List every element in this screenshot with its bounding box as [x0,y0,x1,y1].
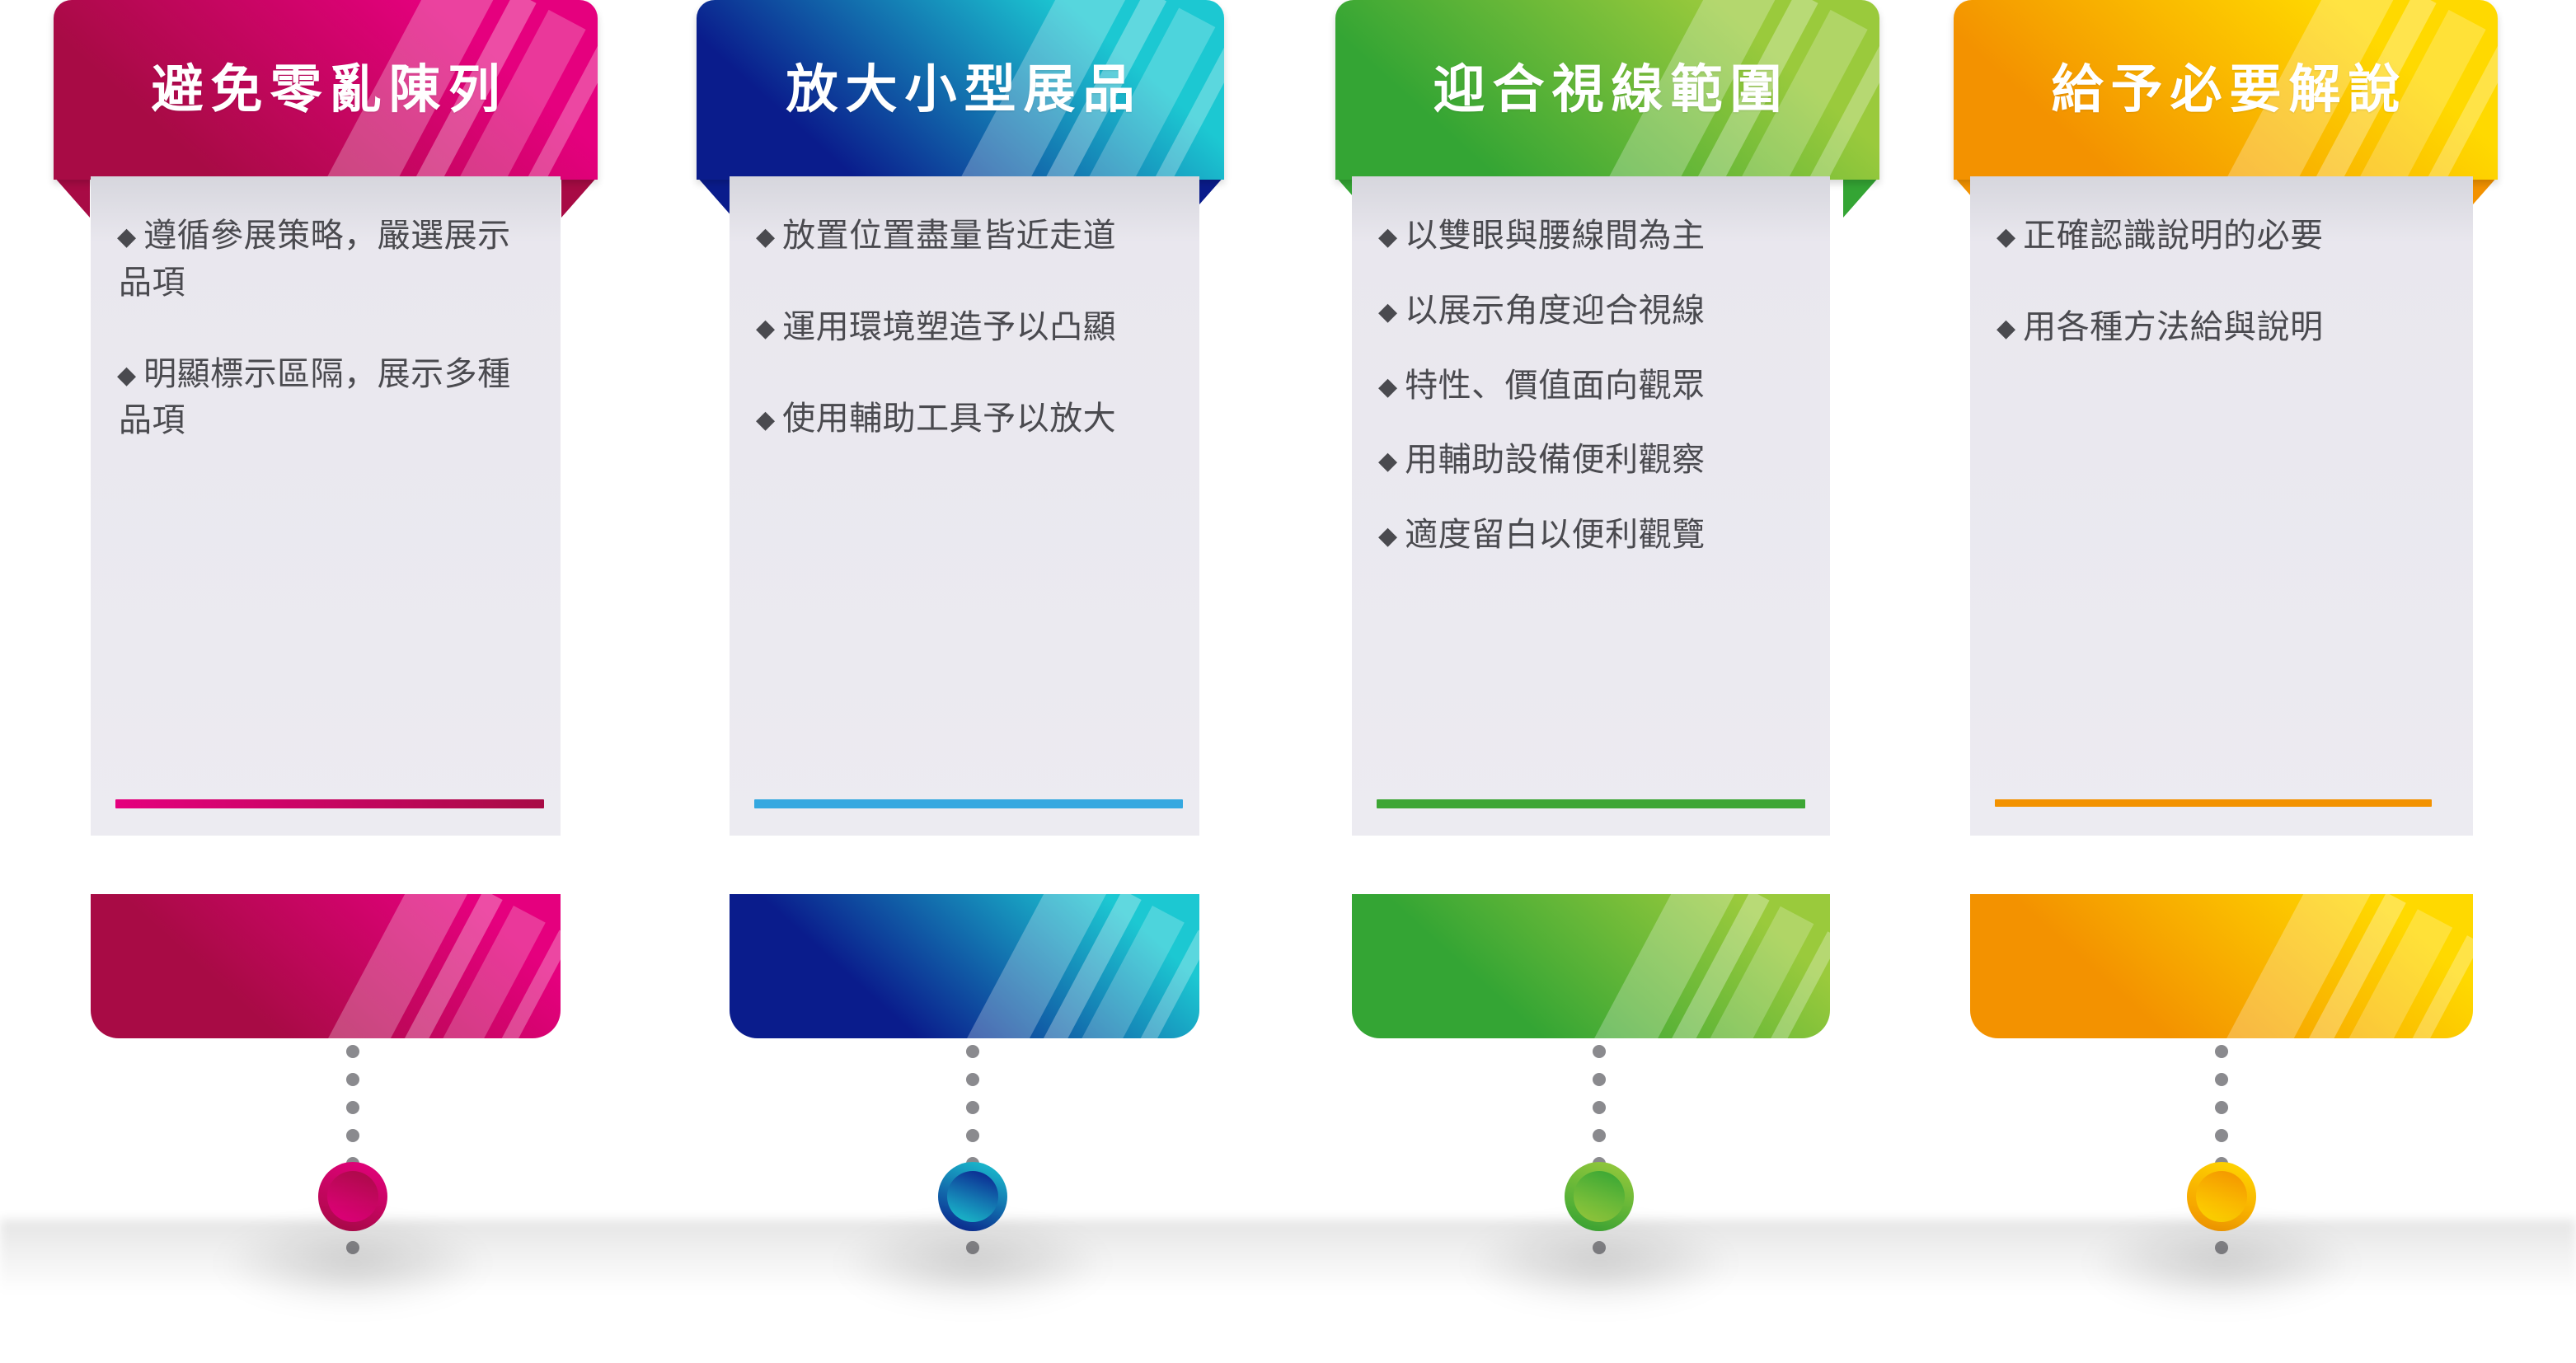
bullet-text: 明顯標示區隔，展示多種品項 [119,356,511,439]
card-footer [1352,894,1830,1038]
infographic-board: 避免零亂陳列◆遵循參展策略，嚴選展示品項◆明顯標示區隔，展示多種品項放大小型展品… [0,0,2576,1363]
card-header: 給予必要解說 [1954,0,2498,180]
connector-dot [966,1073,979,1086]
card-footer [1970,894,2473,1038]
connector-dot [346,1101,359,1114]
bullet-item: ◆以展示角度迎合視線 [1380,288,1802,335]
connector-dot [1593,1129,1606,1142]
timeline-circle-inner [1574,1171,1625,1222]
connector-dot [346,1045,359,1058]
connector-dot [966,1129,979,1142]
bullet-item: ◆放置位置盡量皆近走道 [758,213,1171,260]
card-divider [1995,799,2432,807]
timeline-circle-inner [2196,1171,2247,1222]
card-title: 避免零亂陳列 [144,64,508,116]
bullet-text: 以展示角度迎合視線 [1405,293,1706,329]
connector-dot [966,1045,979,1058]
diamond-bullet-icon: ◆ [1997,223,2015,251]
card-title: 放大小型展品 [779,64,1143,116]
diamond-bullet-icon: ◆ [1997,315,2015,342]
bullet-item: ◆遵循參展策略，嚴選展示品項 [119,213,533,307]
diamond-bullet-icon: ◆ [1378,298,1397,326]
bullet-list: ◆正確認識說明的必要◆用各種方法給與說明 [1970,176,2473,396]
connector-dot [346,1129,359,1142]
diamond-bullet-icon: ◆ [756,406,775,433]
connector-dot [346,1073,359,1086]
diamond-bullet-icon: ◆ [1378,522,1397,550]
card-body: ◆放置位置盡量皆近走道◆運用環境塑造予以凸顯◆使用輔助工具予以放大 [730,176,1199,836]
bullet-item: ◆適度留白以便利觀覽 [1380,512,1802,559]
timeline-circle-inner [947,1171,998,1222]
diamond-bullet-icon: ◆ [1378,447,1397,475]
ribbon-fold [697,176,733,218]
circle-shadow [837,1218,1109,1309]
bullet-list: ◆以雙眼與腰線間為主◆以展示角度迎合視線◆特性、價值面向觀眾◆用輔助設備便利觀察… [1352,176,1830,587]
circle-shadow [2086,1218,2358,1309]
bullet-text: 用輔助設備便利觀察 [1405,442,1706,478]
bullet-text: 特性、價值面向觀眾 [1405,368,1706,404]
connector-dot [2215,1129,2228,1142]
card-title: 迎合視線範圍 [1426,64,1790,116]
ribbon-fold [1843,176,1879,218]
diamond-bullet-icon: ◆ [1378,373,1397,400]
bullet-text: 遵循參展策略，嚴選展示品項 [119,218,511,301]
bullet-text: 放置位置盡量皆近走道 [782,218,1116,254]
diamond-bullet-icon: ◆ [756,315,775,342]
bullet-item: ◆特性、價值面向觀眾 [1380,363,1802,410]
bullet-item: ◆用各種方法給與說明 [1998,304,2445,351]
bullet-list: ◆遵循參展策略，嚴選展示品項◆明顯標示區隔，展示多種品項 [91,176,561,489]
card-body: ◆遵循參展策略，嚴選展示品項◆明顯標示區隔，展示多種品項 [91,176,561,836]
card-body: ◆以雙眼與腰線間為主◆以展示角度迎合視線◆特性、價值面向觀眾◆用輔助設備便利觀察… [1352,176,1830,836]
bullet-text: 使用輔助工具予以放大 [782,400,1116,437]
timeline-circle-inner [327,1171,378,1222]
card-divider [1377,799,1805,808]
connector-dot [1593,1073,1606,1086]
bullet-text: 正確認識說明的必要 [2023,218,2324,254]
bullet-text: 運用環境塑造予以凸顯 [782,309,1116,345]
circle-shadow [217,1218,489,1309]
bullet-item: ◆使用輔助工具予以放大 [758,396,1171,443]
connector-dot [1593,1101,1606,1114]
bullet-text: 適度留白以便利觀覽 [1405,517,1706,553]
connector-dot [966,1101,979,1114]
card-footer [91,894,561,1038]
connector-dot [1593,1045,1606,1058]
card-divider [754,799,1183,808]
bullet-item: ◆正確認識說明的必要 [1998,213,2445,260]
connector-dot [2215,1073,2228,1086]
ribbon-fold [561,176,598,218]
diagonal-sheen [91,894,561,1038]
diamond-bullet-icon: ◆ [756,223,775,251]
diamond-bullet-icon: ◆ [1378,223,1397,251]
card-header: 避免零亂陳列 [54,0,598,180]
connector-dot [2215,1045,2228,1058]
diagonal-sheen [1970,894,2473,1038]
card-divider [115,799,544,808]
card-title: 給予必要解說 [2044,64,2408,116]
circle-shadow [1463,1218,1735,1309]
bullet-list: ◆放置位置盡量皆近走道◆運用環境塑造予以凸顯◆使用輔助工具予以放大 [730,176,1199,486]
bullet-text: 以雙眼與腰線間為主 [1405,218,1706,254]
bullet-text: 用各種方法給與說明 [2023,309,2324,345]
diagonal-sheen [730,894,1199,1038]
card-footer [730,894,1199,1038]
diamond-bullet-icon: ◆ [117,362,136,389]
card-header: 迎合視線範圍 [1335,0,1879,180]
diagonal-sheen [1352,894,1830,1038]
card-body: ◆正確認識說明的必要◆用各種方法給與說明 [1970,176,2473,836]
connector-dot [2215,1101,2228,1114]
card-header: 放大小型展品 [697,0,1224,180]
ribbon-fold [54,176,90,218]
bullet-item: ◆明顯標示區隔，展示多種品項 [119,351,533,445]
diamond-bullet-icon: ◆ [117,223,136,251]
bullet-item: ◆以雙眼與腰線間為主 [1380,213,1802,260]
bullet-item: ◆運用環境塑造予以凸顯 [758,304,1171,351]
bullet-item: ◆用輔助設備便利觀察 [1380,437,1802,484]
